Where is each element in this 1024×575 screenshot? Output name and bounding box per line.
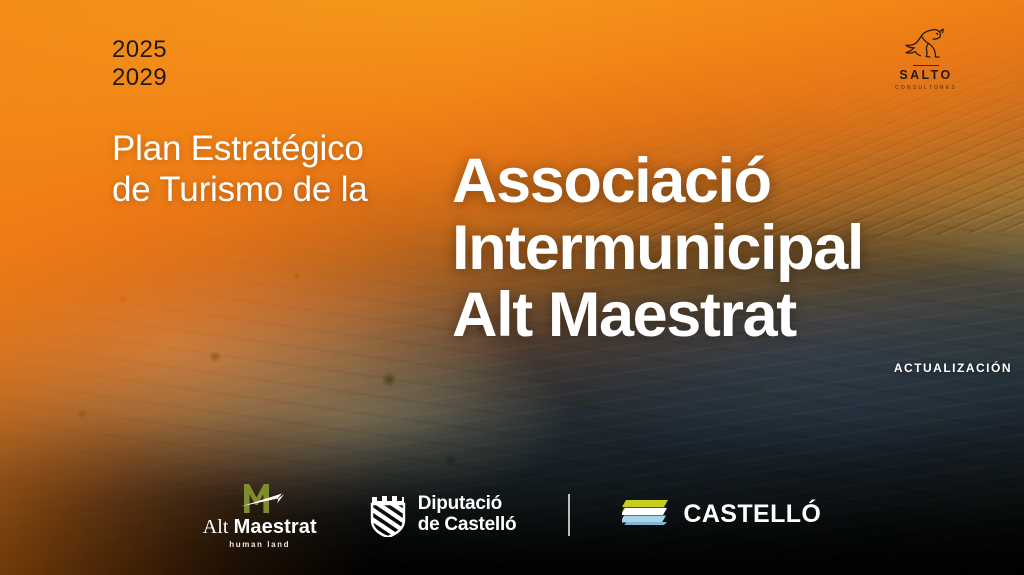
castello-logo: CASTELLÓ (622, 497, 821, 532)
diputacio-line-1: Diputació (418, 494, 517, 514)
alt-maestrat-word-bold: Maestrat (234, 516, 317, 538)
stacked-bars-icon (622, 497, 670, 527)
footer-divider (568, 494, 570, 536)
plan-period-start: 2025 (112, 36, 167, 64)
letter-m-arrow-icon (232, 480, 288, 514)
castello-mark (622, 497, 670, 532)
plan-subtitle: Plan Estratégico de Turismo de la (112, 128, 368, 211)
status-badge: ACTUALIZACIÓN (452, 361, 1012, 375)
plan-period: 2025 2029 (112, 36, 167, 93)
castello-wordmark: CASTELLÓ (683, 500, 821, 529)
footer-logo-bar: Alt Maestrat human land (0, 480, 1024, 549)
alt-maestrat-word-light: Alt (203, 516, 234, 538)
alt-maestrat-wordmark: Alt Maestrat (203, 517, 317, 537)
page-title-line-2: Intermunicipal (452, 215, 1012, 282)
diputacio-wordmark: Diputació de Castelló (418, 494, 517, 534)
salto-tagline: CONSULTORES (880, 85, 972, 91)
alt-maestrat-logo: Alt Maestrat human land (203, 480, 317, 549)
page-title-line-1: Associació (452, 148, 1012, 215)
salto-logo: SALTO CONSULTORES (880, 26, 972, 91)
plan-subtitle-line-2: de Turismo de la (112, 169, 368, 210)
cover-content: 2025 2029 Plan Estratégico de Turismo de… (0, 0, 1024, 575)
plan-period-end: 2029 (112, 64, 167, 92)
alt-maestrat-tagline: human land (229, 540, 290, 549)
crowned-shield-icon (369, 493, 407, 537)
cover-slide: 2025 2029 Plan Estratégico de Turismo de… (0, 0, 1024, 575)
salto-wordmark: SALTO (880, 69, 972, 82)
alt-maestrat-mark (232, 480, 288, 514)
salto-divider (913, 65, 939, 66)
diputacio-line-2: de Castelló (418, 515, 517, 535)
diputacio-logo: Diputació de Castelló (369, 493, 517, 537)
page-title: Associació Intermunicipal Alt Maestrat (452, 148, 1012, 348)
page-title-line-3: Alt Maestrat (452, 282, 1012, 349)
kangaroo-icon (900, 26, 952, 60)
plan-subtitle-line-1: Plan Estratégico (112, 128, 368, 169)
